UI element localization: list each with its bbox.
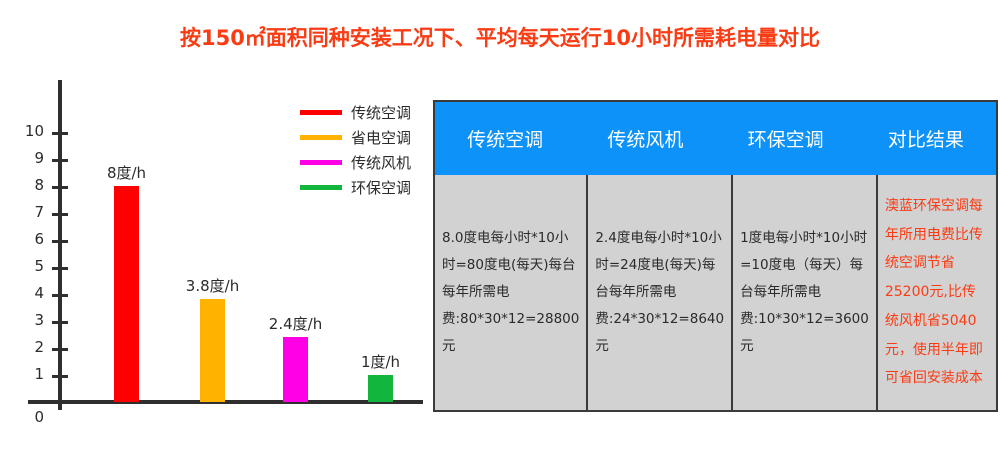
table-header-row: 传统空调 传统风机 环保空调 对比结果 — [435, 102, 996, 175]
table-cell-traditional-ac: 8.0度电每小时*10小时=80度电(每天)每台每年所需电费:80*30*12=… — [435, 175, 586, 410]
table-body-row: 8.0度电每小时*10小时=80度电(每天)每台每年所需电费:80*30*12=… — [435, 175, 996, 410]
table-cell-traditional-fan: 2.4度电每小时*10小时=24度电(每天)每台每年所需电费:24*30*12=… — [586, 175, 731, 410]
y-axis-label-8: 8 — [8, 178, 44, 193]
y-axis-label-2: 2 — [8, 340, 44, 355]
bar-省电空调 — [200, 299, 225, 402]
table-cell-text-1: 2.4度电每小时*10小时=24度电(每天)每台每年所需电费:24*30*12=… — [595, 225, 724, 360]
table-header-cell-2: 环保空调 — [716, 102, 856, 175]
legend-label-2: 传统风机 — [351, 152, 411, 173]
legend-swatch-icon-2 — [300, 160, 342, 165]
table-cell-text-3: 澳蓝环保空调每年所用电费比传统空调节省25200元,比传统风机省5040元，使用… — [885, 192, 989, 393]
y-axis-label-6: 6 — [8, 232, 44, 247]
y-axis-label-3: 3 — [8, 313, 44, 328]
legend-label-1: 省电空调 — [351, 127, 411, 148]
y-axis-label-4: 4 — [8, 286, 44, 301]
table-header-cell-1: 传统风机 — [575, 102, 715, 175]
bar-传统风机 — [283, 337, 308, 402]
legend-item-环保空调: 环保空调 — [300, 175, 430, 200]
bar-chart: 109876543210 8度/h3.8度/h2.4度/h1度/h 传统空调省电… — [0, 80, 430, 440]
table-cell-comparison-result: 澳蓝环保空调每年所用电费比传统空调节省25200元,比传统风机省5040元，使用… — [876, 175, 996, 410]
legend-label-3: 环保空调 — [351, 177, 411, 198]
chart-legend: 传统空调省电空调传统风机环保空调 — [300, 100, 430, 200]
bar-label-传统风机: 2.4度/h — [256, 313, 336, 334]
legend-item-传统风机: 传统风机 — [300, 150, 430, 175]
y-axis-label-10: 10 — [8, 124, 44, 139]
table-cell-eco-ac: 1度电每小时*10小时=10度电（每天）每台每年所需电费:10*30*12=36… — [731, 175, 876, 410]
bar-环保空调 — [368, 375, 393, 402]
legend-label-0: 传统空调 — [351, 102, 411, 123]
table-cell-text-0: 8.0度电每小时*10小时=80度电(每天)每台每年所需电费:80*30*12=… — [442, 225, 579, 360]
table-cell-text-2: 1度电每小时*10小时=10度电（每天）每台每年所需电费:10*30*12=36… — [740, 225, 869, 360]
y-axis-label-9: 9 — [8, 151, 44, 166]
legend-swatch-icon-1 — [300, 135, 342, 140]
table-header-cell-3: 对比结果 — [856, 102, 996, 175]
legend-item-省电空调: 省电空调 — [300, 125, 430, 150]
bar-label-省电空调: 3.8度/h — [173, 275, 253, 296]
y-axis-label-1: 1 — [8, 367, 44, 382]
legend-item-传统空调: 传统空调 — [300, 100, 430, 125]
y-axis-label-5: 5 — [8, 259, 44, 274]
page-title: 按150㎡面积同种安装工况下、平均每天运行10小时所需耗电量对比 — [0, 22, 1000, 52]
legend-swatch-icon-3 — [300, 185, 342, 190]
bar-传统空调 — [114, 186, 139, 402]
y-axis-label-0: 0 — [8, 408, 44, 426]
comparison-table: 传统空调 传统风机 环保空调 对比结果 8.0度电每小时*10小时=80度电(每… — [433, 100, 998, 412]
bar-label-环保空调: 1度/h — [341, 351, 421, 372]
y-axis-label-7: 7 — [8, 205, 44, 220]
bar-label-传统空调: 8度/h — [87, 162, 167, 183]
table-header-cell-0: 传统空调 — [435, 102, 575, 175]
legend-swatch-icon-0 — [300, 110, 342, 115]
